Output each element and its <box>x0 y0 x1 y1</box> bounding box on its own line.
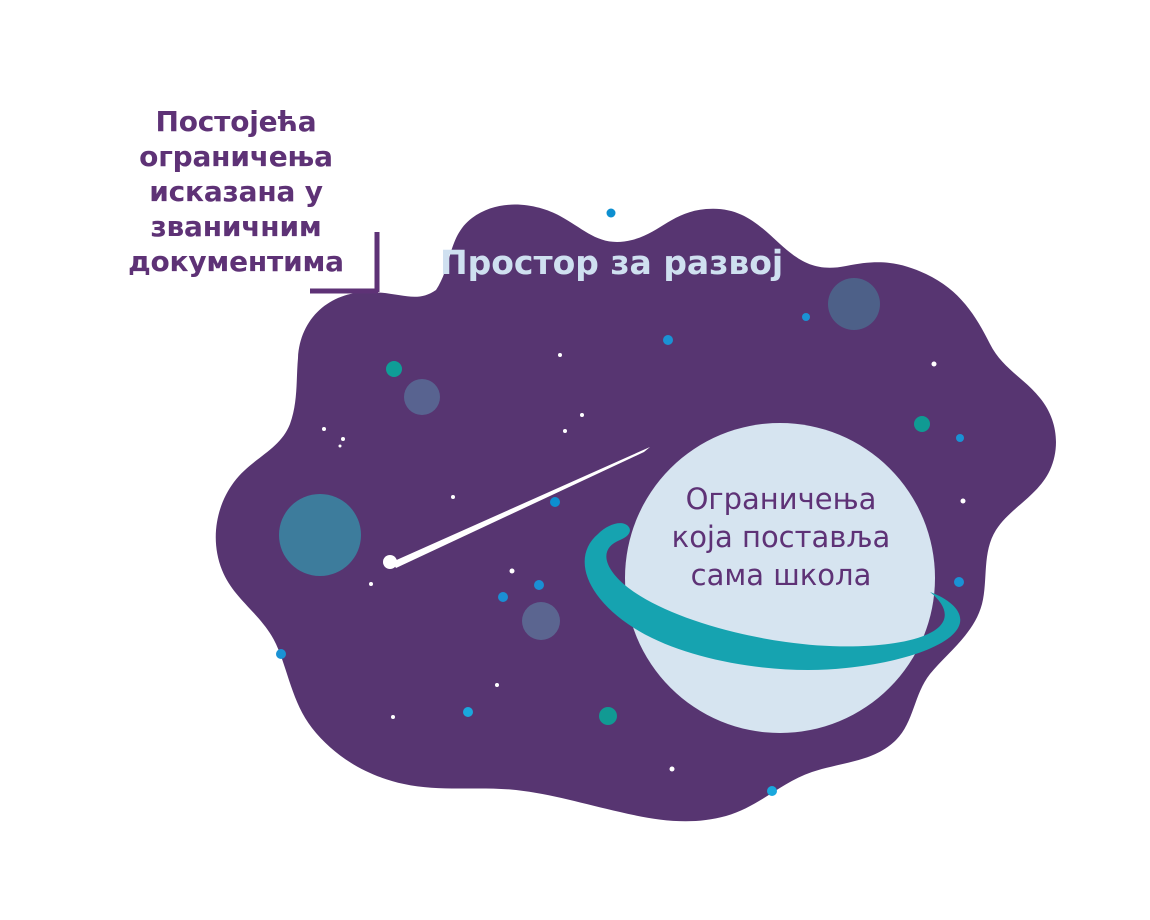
dot-6 <box>802 313 810 321</box>
dot-11 <box>498 592 508 602</box>
planet-label-line-1: Ограничења <box>640 480 922 518</box>
caption-line-3: исказана у <box>100 174 372 209</box>
dot-8 <box>954 577 964 587</box>
dot-10 <box>534 580 544 590</box>
dot-9 <box>956 434 964 442</box>
illustration-canvas: Постојећа ограничења исказана у званични… <box>0 0 1150 920</box>
caption-line-5: документима <box>100 244 372 279</box>
dot-13 <box>463 707 473 717</box>
star-speck-6 <box>510 569 515 574</box>
dot-5 <box>663 335 673 345</box>
planet-label-line-3: сама школа <box>640 556 922 594</box>
star-speck-12 <box>846 241 850 245</box>
dot-1 <box>386 361 402 377</box>
dot-4 <box>607 209 616 218</box>
star-speck-3 <box>339 445 342 448</box>
comet-head-icon <box>383 555 397 569</box>
star-speck-4 <box>451 495 455 499</box>
space-title: Простор за развој <box>440 243 783 283</box>
star-speck-14 <box>961 499 966 504</box>
planet-label-block: Ограничења која поставља сама школа <box>640 480 922 594</box>
moon-circle-4 <box>522 602 560 640</box>
dot-3 <box>599 707 617 725</box>
star-speck-11 <box>670 767 675 772</box>
dot-2 <box>914 416 930 432</box>
caption-line-1: Постојећа <box>100 104 372 139</box>
star-speck-10 <box>580 413 584 417</box>
moon-circle-2 <box>828 278 880 330</box>
caption-line-4: званичним <box>100 209 372 244</box>
caption-text-block: Постојећа ограничења исказана у званични… <box>100 104 372 279</box>
caption-line-2: ограничења <box>100 139 372 174</box>
star-speck-7 <box>495 683 499 687</box>
star-speck-8 <box>563 429 567 433</box>
star-speck-15 <box>391 715 395 719</box>
dot-12 <box>276 649 286 659</box>
planet-label-line-2: која поставља <box>640 518 922 556</box>
dot-14 <box>767 786 777 796</box>
star-speck-1 <box>322 427 326 431</box>
star-speck-5 <box>369 582 373 586</box>
moon-circle-1 <box>279 494 361 576</box>
star-speck-2 <box>341 437 345 441</box>
star-speck-9 <box>558 353 562 357</box>
dot-7 <box>550 497 560 507</box>
star-speck-13 <box>932 362 937 367</box>
moon-circle-3 <box>404 379 440 415</box>
